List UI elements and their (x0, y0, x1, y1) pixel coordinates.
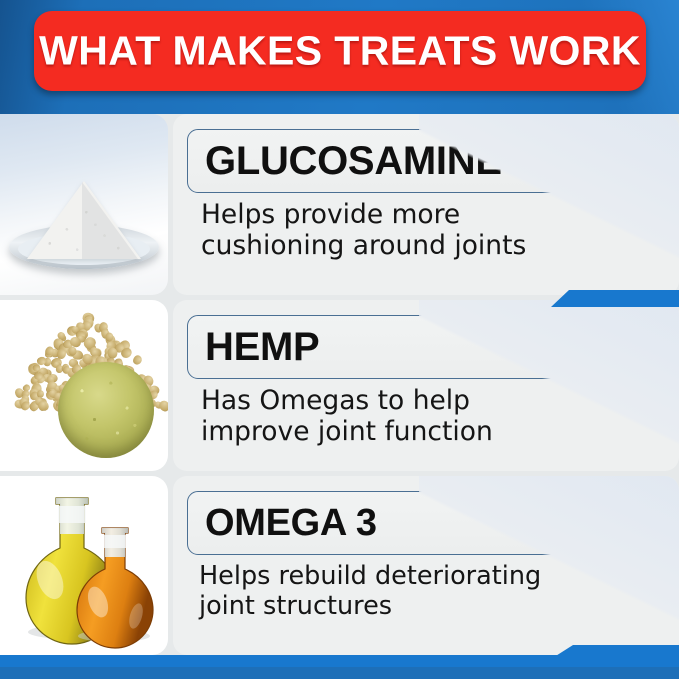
hemp-seeds-powder-image (0, 300, 168, 471)
glucosamine-powder-dish-image (0, 114, 168, 295)
omega-3-description-line-2: joint structures (199, 592, 669, 622)
hemp-seed (132, 354, 144, 366)
glucosamine-description-line-1: Helps provide more (201, 200, 669, 231)
ingredient-row-omega-3: OMEGA 3 Helps rebuild deteriorating join… (0, 476, 679, 655)
hemp-title: HEMP (188, 327, 319, 367)
omega-3-title-box: OMEGA 3 (187, 491, 662, 555)
omega-3-text-card: OMEGA 3 Helps rebuild deteriorating join… (173, 476, 679, 655)
hemp-description-line-1: Has Omegas to help (201, 386, 669, 417)
ingredient-row-hemp: HEMP Has Omegas to help improve joint fu… (0, 300, 679, 471)
header-banner-area: WHAT MAKES TREATS WORK (0, 0, 679, 114)
hemp-illustration (0, 300, 168, 471)
blue-accent-wedge-top (551, 290, 679, 307)
hemp-powder-mound (58, 362, 154, 458)
hemp-text-card: HEMP Has Omegas to help improve joint fu… (173, 300, 679, 471)
hemp-description: Has Omegas to help improve joint functio… (201, 386, 669, 447)
omega-3-description: Helps rebuild deteriorating joint struct… (199, 562, 669, 621)
infographic-poster: WHAT MAKES TREATS WORK GLUCOSAMINE (0, 0, 679, 679)
glucosamine-description: Helps provide more cushioning around joi… (201, 200, 669, 261)
oil-flasks-svg (10, 484, 160, 649)
hemp-description-line-2: improve joint function (201, 417, 669, 448)
hemp-title-box: HEMP (187, 315, 662, 379)
blue-accent-wedge-bottom (551, 645, 679, 659)
ingredient-list: GLUCOSAMINE Helps provide more cushionin… (0, 114, 679, 667)
glucosamine-title: GLUCOSAMINE (188, 141, 502, 181)
header-red-banner: WHAT MAKES TREATS WORK (34, 11, 646, 91)
omega-3-title: OMEGA 3 (188, 504, 377, 542)
glucosamine-description-line-2: cushioning around joints (201, 231, 669, 262)
omega-3-description-line-1: Helps rebuild deteriorating (199, 562, 669, 592)
hemp-seed (105, 332, 113, 341)
glucosamine-text-card: GLUCOSAMINE Helps provide more cushionin… (173, 114, 679, 295)
orange-oil-flask (77, 528, 153, 648)
glucosamine-title-box: GLUCOSAMINE (187, 129, 662, 193)
oil-flasks-illustration (0, 476, 168, 655)
ingredient-row-glucosamine: GLUCOSAMINE Helps provide more cushionin… (0, 114, 679, 295)
page-title: WHAT MAKES TREATS WORK (34, 28, 646, 75)
powder-dish-illustration (0, 114, 168, 295)
omega-3-oil-flasks-image (0, 476, 168, 655)
